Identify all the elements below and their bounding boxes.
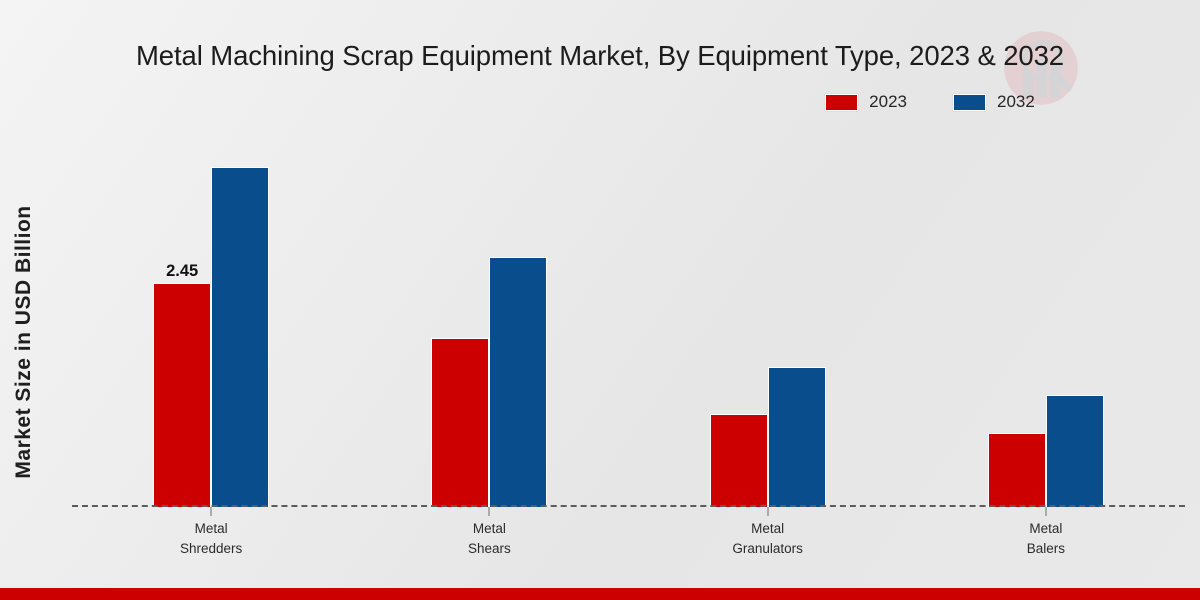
chart-legend: 2023 2032	[0, 92, 1200, 112]
x-tick-2	[767, 507, 768, 516]
x-tick-0	[211, 507, 212, 516]
bar-group-0: 2.45 Metal Shredders	[72, 140, 350, 507]
bar-group-3: Metal Balers	[907, 140, 1185, 507]
x-label-1: Metal Shears	[468, 519, 511, 558]
x-label-2: Metal Granulators	[732, 519, 803, 558]
y-axis-title: Market Size in USD Billion	[12, 82, 36, 600]
x-axis-baseline	[72, 505, 1185, 507]
bars-2	[710, 140, 826, 507]
bar-value-2023-0: 2.45	[166, 262, 198, 281]
legend-label-2032: 2032	[997, 92, 1035, 112]
legend-item-2032[interactable]: 2032	[953, 92, 1035, 112]
bar-2032-0[interactable]	[211, 167, 269, 507]
x-tick-1	[489, 507, 490, 516]
bar-2023-1[interactable]	[431, 338, 489, 507]
bar-2023-3[interactable]	[988, 433, 1046, 507]
bar-2032-1[interactable]	[489, 257, 547, 507]
bar-2032-3[interactable]	[1046, 395, 1104, 507]
bar-group-1: Metal Shears	[350, 140, 628, 507]
bar-group-2: Metal Granulators	[629, 140, 907, 507]
x-label-3: Metal Balers	[1027, 519, 1065, 558]
footer-accent-bar	[0, 588, 1200, 600]
x-label-0: Metal Shredders	[180, 519, 242, 558]
bars-3	[988, 140, 1104, 507]
legend-swatch-2032	[953, 94, 986, 111]
x-tick-3	[1045, 507, 1046, 516]
plot-area: 2.45 Metal Shredders	[72, 140, 1185, 507]
bar-2032-2[interactable]	[768, 367, 826, 507]
legend-item-2023[interactable]: 2023	[825, 92, 907, 112]
chart-title: Metal Machining Scrap Equipment Market, …	[0, 40, 1200, 72]
bars-0: 2.45	[153, 140, 269, 507]
legend-label-2023: 2023	[869, 92, 907, 112]
bars-1	[431, 140, 547, 507]
bar-2023-2[interactable]	[710, 414, 768, 507]
bar-groups: 2.45 Metal Shredders	[72, 140, 1185, 507]
legend-swatch-2023	[825, 94, 858, 111]
chart-container: Metal Machining Scrap Equipment Market, …	[0, 0, 1200, 600]
bar-2023-0[interactable]: 2.45	[153, 283, 211, 507]
